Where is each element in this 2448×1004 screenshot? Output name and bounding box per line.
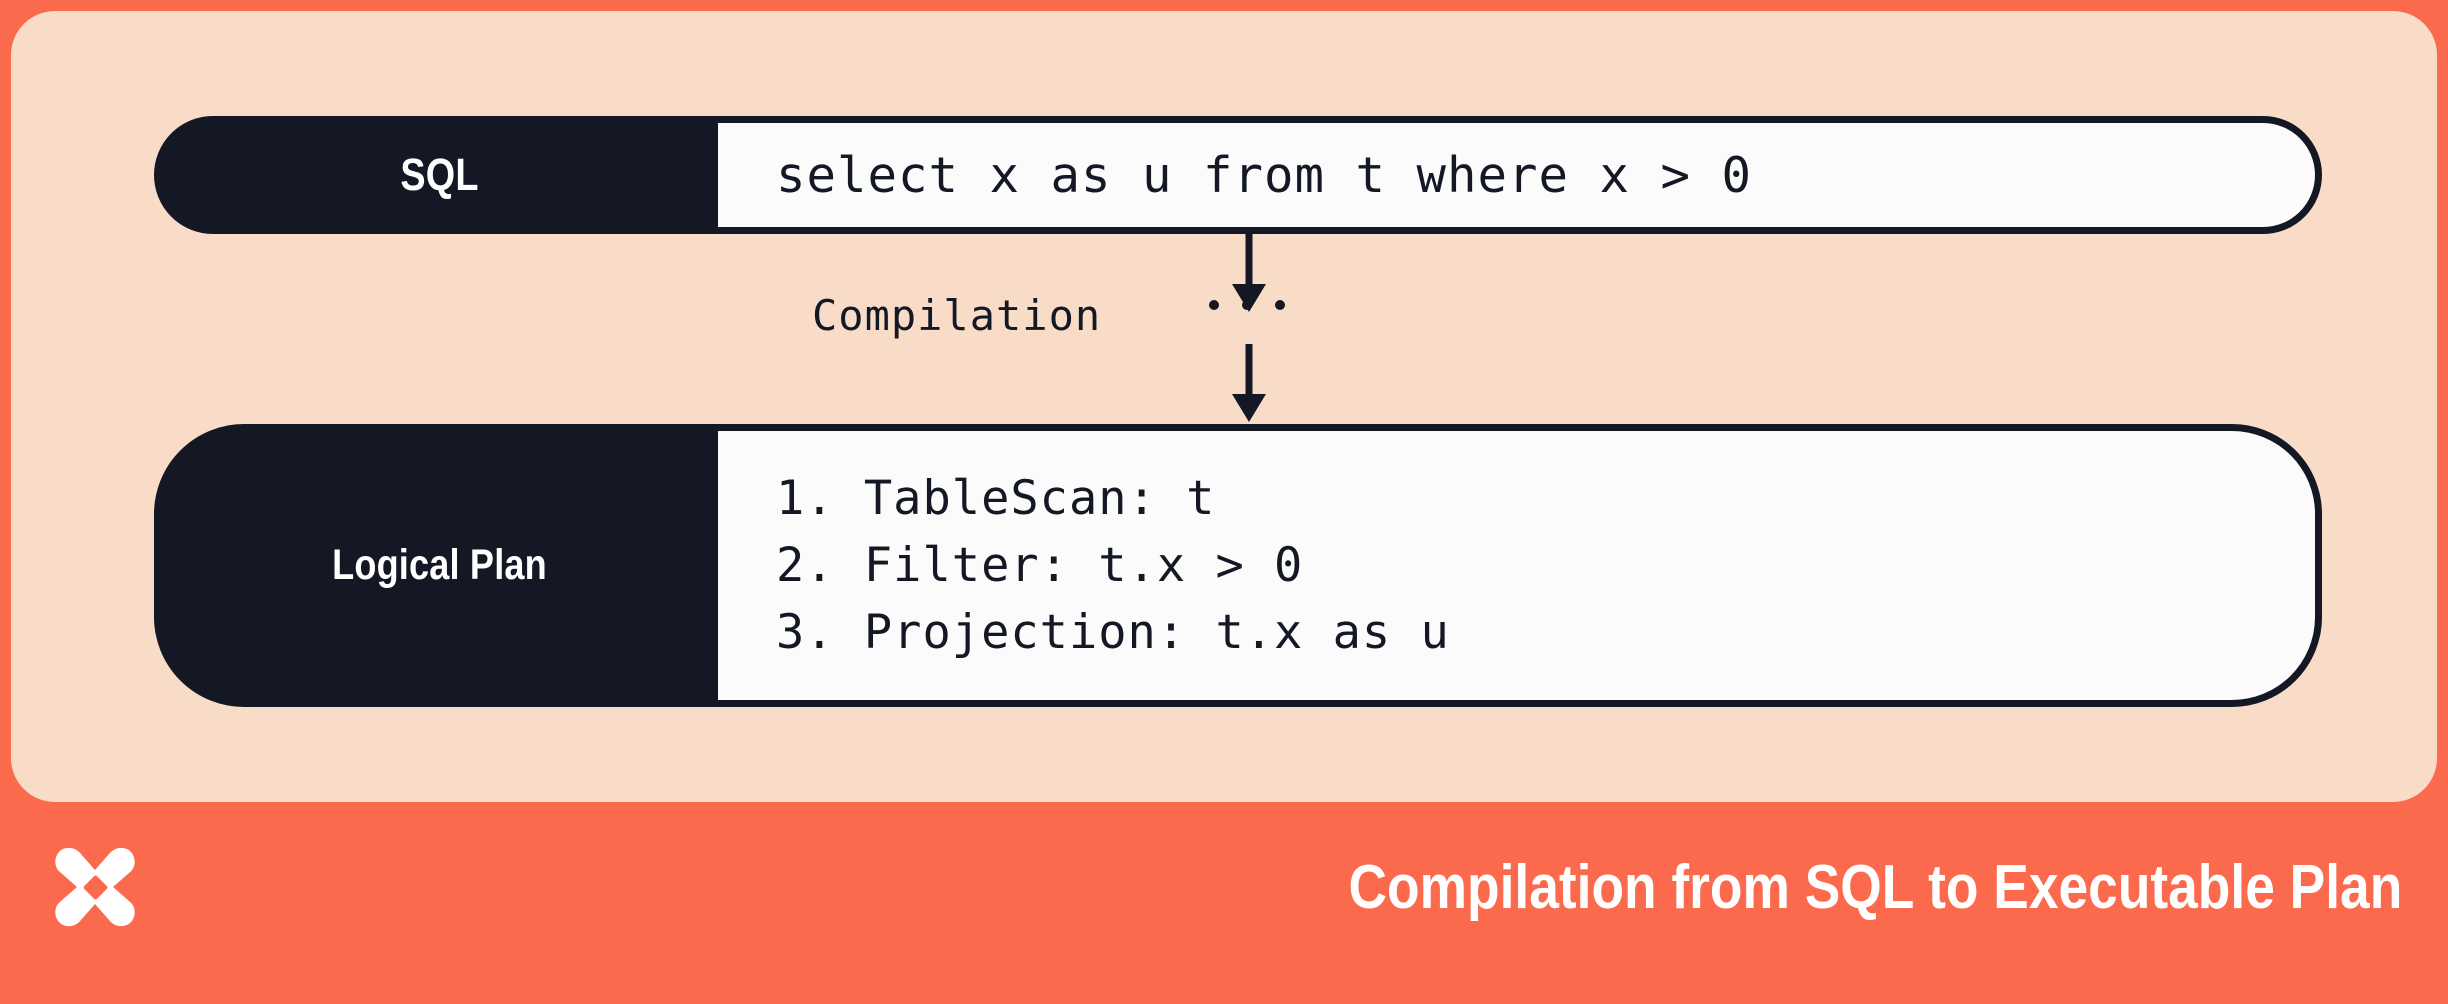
arrow-down-icon <box>1221 344 1277 424</box>
plan-step-1: 1. TableScan: t <box>776 465 2315 532</box>
ellipsis-dot <box>1209 300 1219 310</box>
ellipsis-dot <box>1275 300 1285 310</box>
sql-code-line: select x as u from t where x > 0 <box>776 151 2315 200</box>
sql-code-panel: select x as u from t where x > 0 <box>718 123 2315 227</box>
poster-root: SQL select x as u from t where x > 0 Com… <box>0 0 2448 1004</box>
sql-row-label: SQL <box>206 123 674 227</box>
logical-plan-row-label: Logical Plan <box>206 431 674 700</box>
x-star-logo-icon <box>42 834 148 940</box>
plan-step-3: 3. Projection: t.x as u <box>776 599 2315 666</box>
compilation-flow: Compilation <box>154 234 2322 424</box>
content-card: SQL select x as u from t where x > 0 Com… <box>11 11 2437 802</box>
plan-step-2: 2. Filter: t.x > 0 <box>776 532 2315 599</box>
footer-title: Compilation from SQL to Executable Plan <box>1348 852 2402 923</box>
footer-bar: Compilation from SQL to Executable Plan <box>0 802 2448 1004</box>
ellipsis-dots <box>1209 300 1285 310</box>
logical-plan-row: Logical Plan 1. TableScan: t 2. Filter: … <box>154 424 2322 707</box>
logical-plan-panel: 1. TableScan: t 2. Filter: t.x > 0 3. Pr… <box>718 431 2315 700</box>
ellipsis-dot <box>1242 300 1252 310</box>
sql-row: SQL select x as u from t where x > 0 <box>154 116 2322 234</box>
compilation-caption: Compilation <box>812 291 1101 340</box>
